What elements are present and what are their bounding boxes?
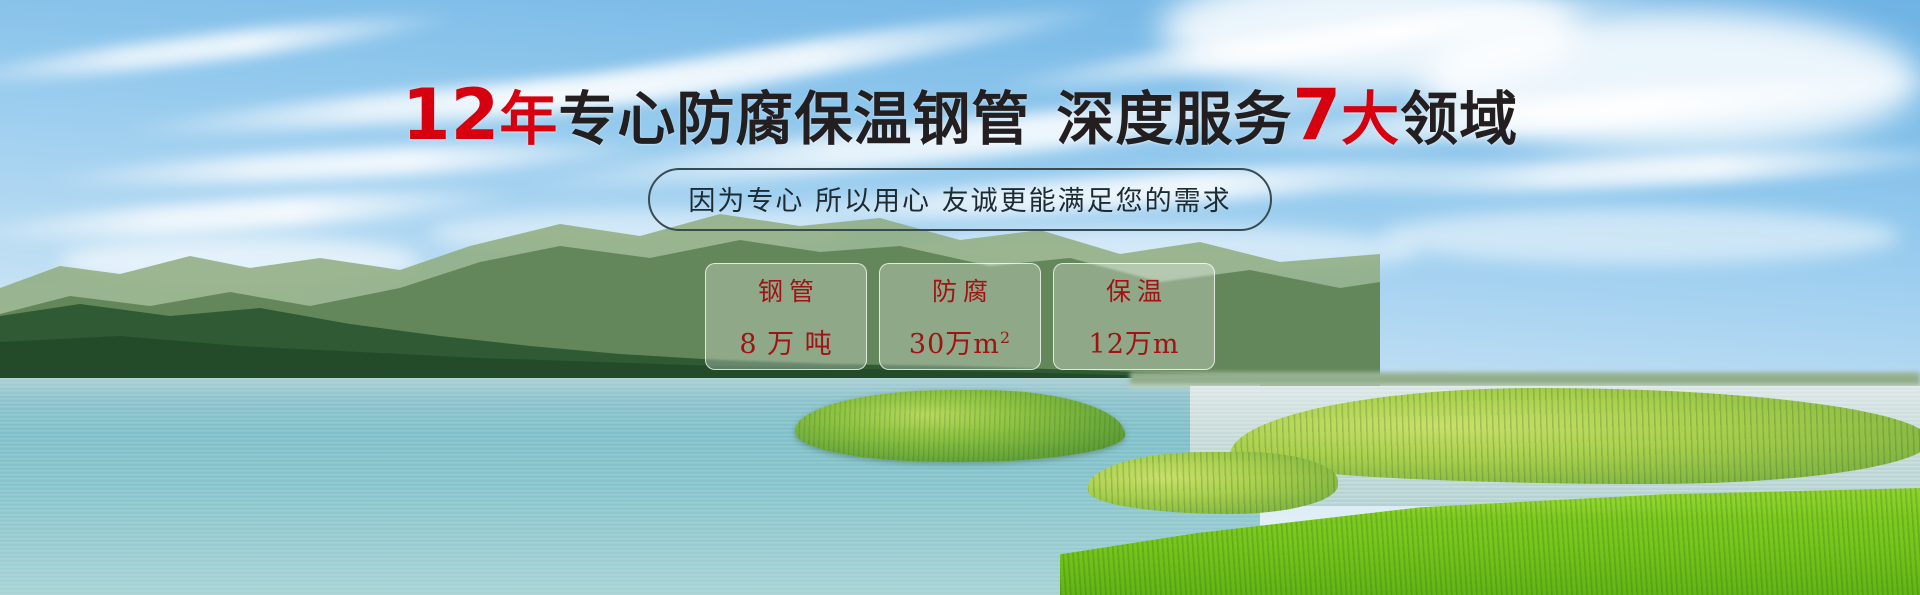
headline-segment-1: 专心防腐保温钢管 [558, 85, 1030, 153]
subtitle-container: 因为专心 所以用心 友诚更能满足您的需求 [0, 168, 1920, 231]
stat-card-value: 8 万 吨 [739, 322, 832, 361]
stat-card-insulation[interactable]: 保温 12万m [1053, 263, 1215, 370]
headline-unit-years: 年 [499, 85, 558, 153]
headline-segment-3: 领域 [1400, 85, 1518, 153]
subtitle-pill: 因为专心 所以用心 友诚更能满足您的需求 [648, 168, 1271, 231]
stat-card-label: 保温 [1100, 272, 1168, 308]
stat-card-label: 防腐 [926, 272, 994, 308]
stat-card-anticorrosion[interactable]: 防腐 30万m2 [879, 263, 1041, 370]
stat-card-steel-pipe[interactable]: 钢管 8 万 吨 [705, 263, 867, 370]
marsh-bank-left [1088, 452, 1338, 514]
headline-segment-2: 深度服务 [1056, 85, 1292, 153]
stat-card-group: 钢管 8 万 吨 防腐 30万m2 保温 12万m [0, 263, 1920, 370]
stat-card-value: 12万m [1089, 322, 1180, 361]
headline-number-years: 12 [402, 74, 499, 156]
grass-island [795, 390, 1125, 462]
stat-card-value: 30万m2 [909, 322, 1011, 361]
headline: 12年专心防腐保温钢管深度服务7大领域 [0, 80, 1920, 150]
stat-card-label: 钢管 [752, 272, 820, 308]
unit-superscript: 2 [1000, 328, 1011, 347]
headline-unit-fields: 大 [1341, 85, 1400, 153]
promo-banner: 12年专心防腐保温钢管深度服务7大领域 因为专心 所以用心 友诚更能满足您的需求… [0, 0, 1920, 595]
headline-number-fields: 7 [1292, 74, 1341, 156]
